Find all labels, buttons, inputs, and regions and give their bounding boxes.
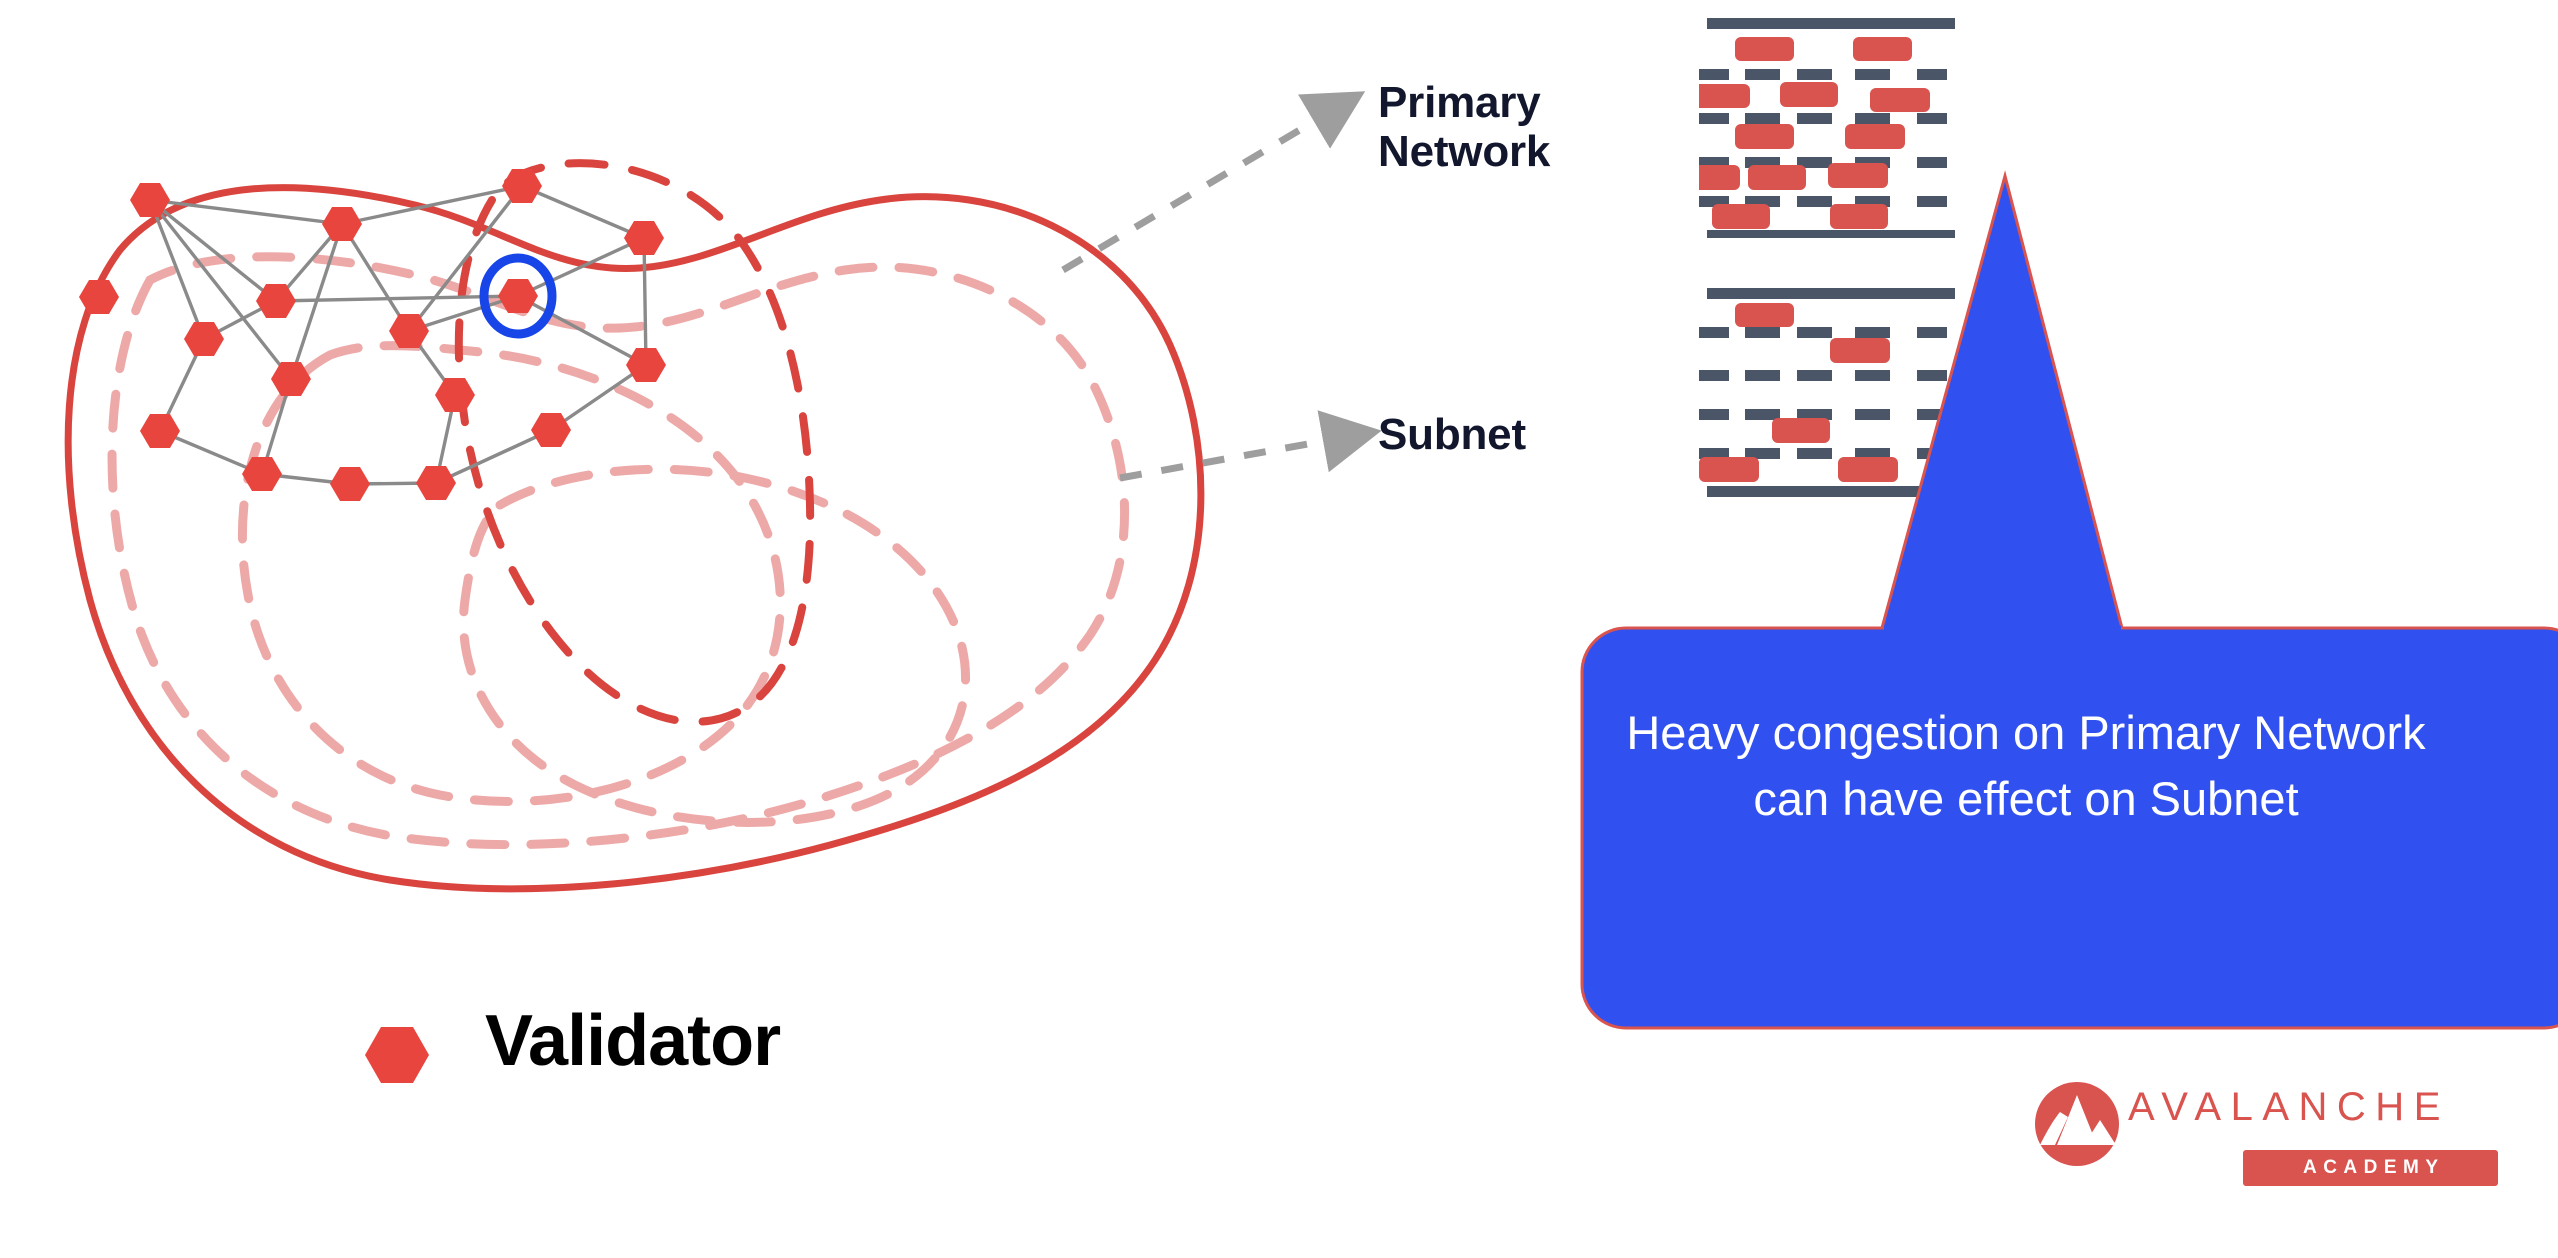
validator-node[interactable] — [322, 207, 362, 241]
legend-validator-label: Validator — [485, 1000, 780, 1082]
legend-validator-icon — [365, 1027, 429, 1083]
validator-node[interactable] — [531, 413, 571, 447]
callout-text: Heavy congestion on Primary Network can … — [1596, 700, 2456, 832]
subnet-arrow — [1120, 440, 1330, 478]
subnet-label: Subnet — [1378, 410, 1526, 459]
callout-bubble-tail — [1882, 176, 2122, 628]
academy-badge-label: ACADEMY — [2243, 1150, 2498, 1186]
validator-node[interactable] — [626, 348, 666, 382]
validator-node[interactable] — [624, 221, 664, 255]
validator-node[interactable] — [330, 467, 370, 501]
primary-network-blocks — [1682, 18, 1955, 241]
primary-network-arrow — [1063, 118, 1320, 270]
academy-badge: ACADEMY — [2243, 1150, 2498, 1186]
diagram-vector-layer — [0, 0, 2558, 1258]
validator-node[interactable] — [502, 169, 542, 203]
diagram-canvas: Primary Network Subnet Heavy congestion … — [0, 0, 2558, 1258]
validator-node[interactable] — [140, 414, 180, 448]
validator-node[interactable] — [184, 322, 224, 356]
primary-network-label: Primary Network — [1378, 78, 1550, 177]
validator-node[interactable] — [435, 378, 475, 412]
avalanche-wordmark: AVALANCHE — [2128, 1085, 2450, 1130]
avalanche-logo-mark — [2035, 1082, 2119, 1166]
subnet-blocks — [1699, 288, 1955, 497]
callout-bubble — [1582, 176, 2558, 1028]
validator-node[interactable] — [416, 466, 456, 500]
